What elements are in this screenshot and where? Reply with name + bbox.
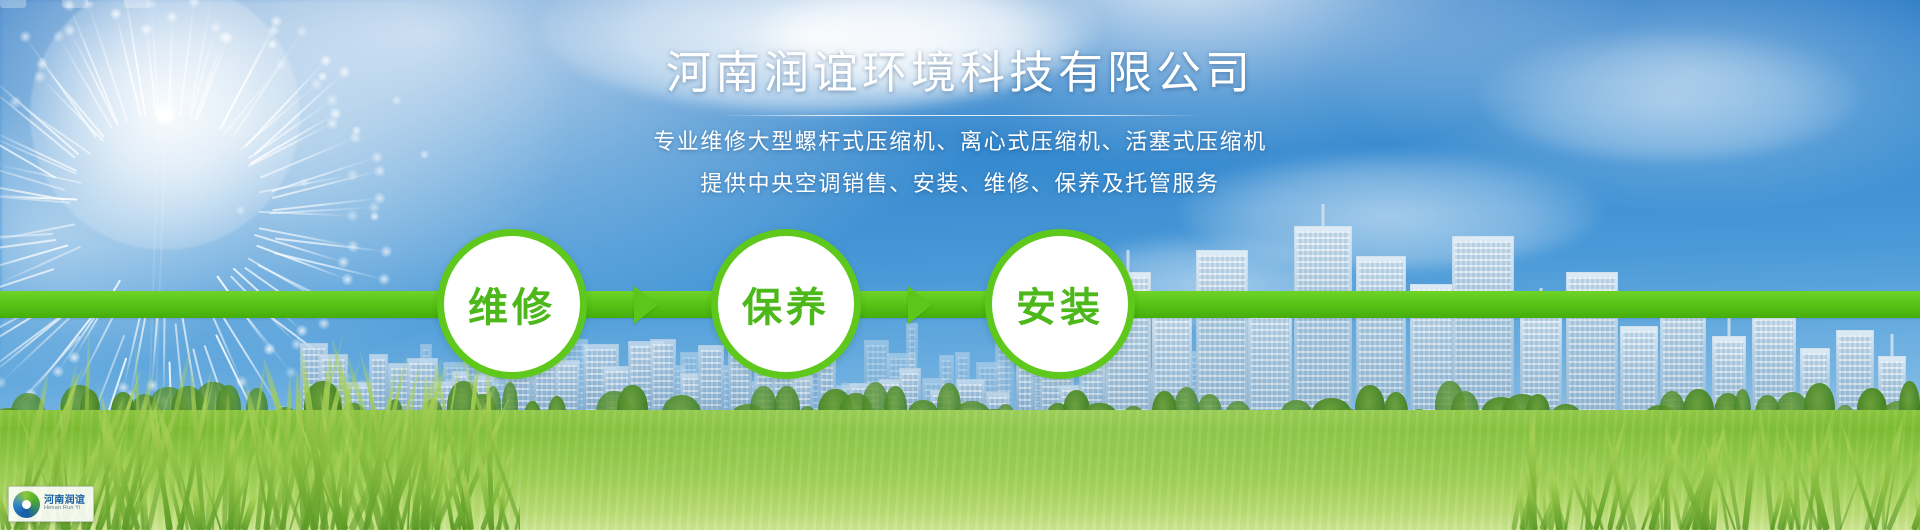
floating-seed xyxy=(392,96,401,105)
process-step-label: 维修 xyxy=(468,275,556,333)
grass-blade xyxy=(1742,428,1759,530)
logo-name-en: Henan Run Yi xyxy=(44,506,85,512)
company-logo-watermark[interactable]: 河南润谊 Henan Run Yi xyxy=(8,486,94,522)
grass-blade xyxy=(1710,488,1719,530)
building-spire xyxy=(1891,334,1894,356)
process-step-label: 保养 xyxy=(742,275,830,333)
floating-seed xyxy=(300,178,309,187)
process-step-label: 安装 xyxy=(1016,275,1104,333)
floating-seed xyxy=(318,72,327,81)
logo-text-group: 河南润谊 Henan Run Yi xyxy=(44,496,85,512)
foreground-grass-right xyxy=(1500,410,1920,530)
arrow-step-2-to-3-icon xyxy=(908,286,932,324)
process-step-maintenance[interactable]: 保养 xyxy=(711,229,861,379)
grass-blade xyxy=(1759,413,1776,530)
company-hero-banner: 维修 保养 安装 河南润谊环境科技有限公司 专业维修大型螺杆式压缩机、离心式压缩… xyxy=(0,0,1920,530)
floating-seed xyxy=(420,150,429,159)
arrow-step-1-to-2-icon xyxy=(634,286,658,324)
floating-seed xyxy=(268,40,277,49)
building-spire xyxy=(1322,204,1325,226)
process-step-repair[interactable]: 维修 xyxy=(437,229,587,379)
floating-seed xyxy=(352,126,361,135)
process-band xyxy=(0,291,1920,318)
dandelion-core xyxy=(156,106,174,124)
grass-blade xyxy=(1826,422,1842,530)
process-step-installation[interactable]: 安装 xyxy=(985,229,1135,379)
logo-swirl-icon xyxy=(13,491,40,518)
building-spire xyxy=(1127,250,1130,272)
